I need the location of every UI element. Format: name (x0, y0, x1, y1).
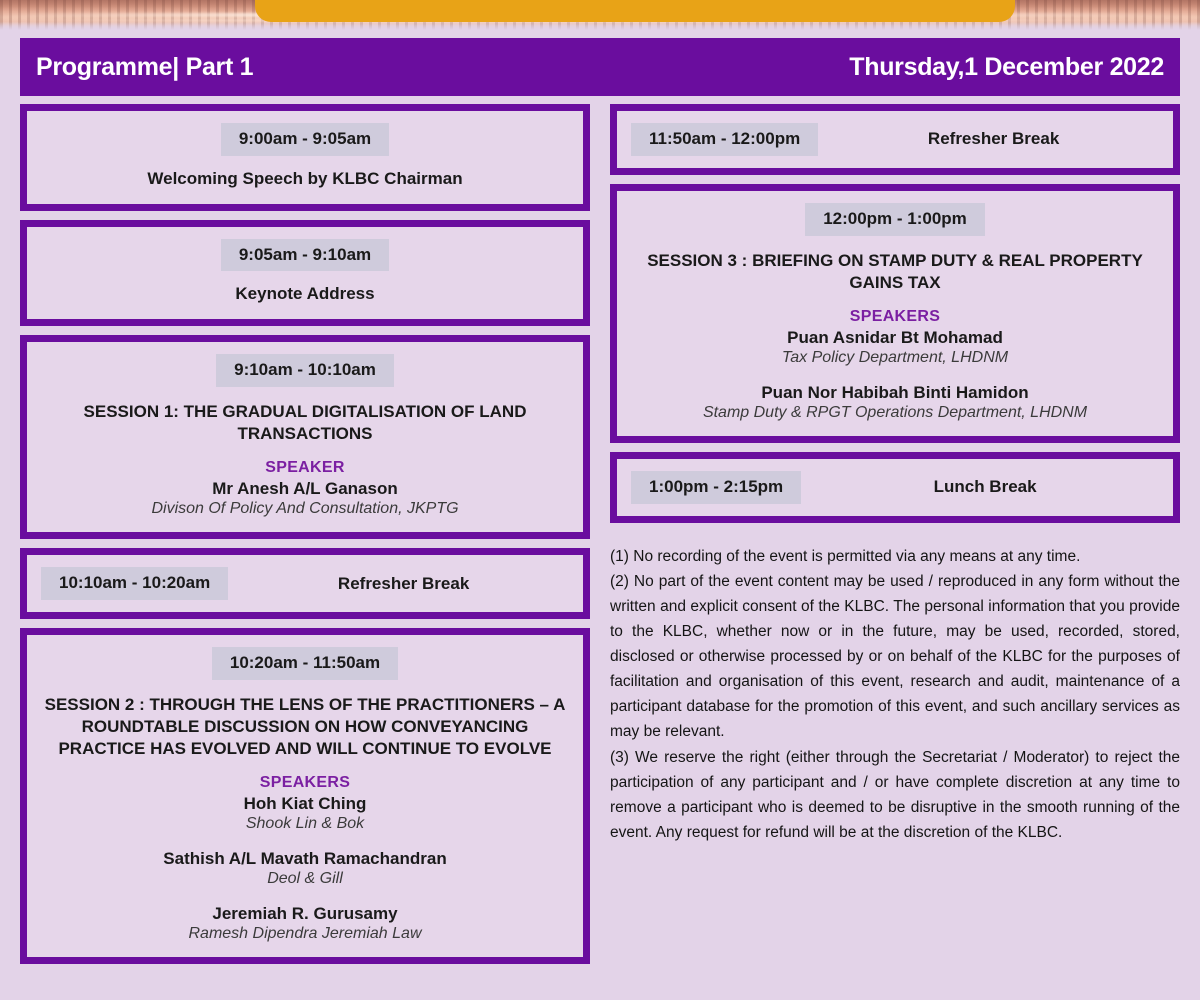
top-banner-image (0, 0, 1200, 30)
agenda-item-card: 9:00am - 9:05amWelcoming Speech by KLBC … (20, 104, 590, 211)
break-label: Lunch Break (811, 477, 1159, 497)
session-title: SESSION 3 : BRIEFING ON STAMP DUTY & REA… (631, 250, 1159, 294)
programme-date: Thursday,1 December 2022 (849, 53, 1164, 82)
programme-header-bar: Programme| Part 1 Thursday,1 December 20… (20, 38, 1180, 96)
terms-paragraph: (1) No recording of the event is permitt… (610, 544, 1180, 569)
session-title: SESSION 2 : THROUGH THE LENS OF THE PRAC… (41, 694, 569, 760)
speaker-organisation: Stamp Duty & RPGT Operations Department,… (631, 404, 1159, 422)
agenda-item-title: Keynote Address (41, 283, 569, 305)
time-chip: 9:05am - 9:10am (221, 239, 389, 272)
speaker-organisation: Ramesh Dipendra Jeremiah Law (41, 925, 569, 943)
terms-paragraph: (2) No part of the event content may be … (610, 569, 1180, 745)
time-chip: 11:50am - 12:00pm (631, 123, 818, 156)
terms-paragraph: (3) We reserve the right (either through… (610, 745, 1180, 845)
banner-fade-overlay (0, 22, 1200, 30)
banner-orange-shape (255, 0, 1015, 22)
speaker-organisation: Tax Policy Department, LHDNM (631, 349, 1159, 367)
agenda-item-card: 9:05am - 9:10amKeynote Address (20, 220, 590, 327)
time-chip: 12:00pm - 1:00pm (805, 203, 985, 236)
break-card: 1:00pm - 2:15pmLunch Break (610, 452, 1180, 523)
session-card: 10:20am - 11:50amSESSION 2 : THROUGH THE… (20, 628, 590, 964)
speaker-block: Jeremiah R. GurusamyRamesh Dipendra Jere… (41, 904, 569, 943)
speakers-heading: SPEAKERS (631, 308, 1159, 326)
speakers-heading: SPEAKERS (41, 774, 569, 792)
session-card: 9:10am - 10:10amSESSION 1: THE GRADUAL D… (20, 335, 590, 539)
speaker-name: Mr Anesh A/L Ganason (41, 479, 569, 499)
time-chip: 9:10am - 10:10am (216, 354, 394, 387)
speaker-block: Sathish A/L Mavath RamachandranDeol & Gi… (41, 849, 569, 888)
speaker-name: Puan Asnidar Bt Mohamad (631, 328, 1159, 348)
speaker-organisation: Shook Lin & Bok (41, 815, 569, 833)
right-column: 11:50am - 12:00pmRefresher Break12:00pm … (610, 104, 1180, 964)
speaker-organisation: Divison Of Policy And Consultation, JKPT… (41, 500, 569, 518)
page-title: Programme| Part 1 (36, 53, 253, 82)
speaker-block: Mr Anesh A/L GanasonDivison Of Policy An… (41, 479, 569, 518)
time-chip: 10:10am - 10:20am (41, 567, 228, 600)
time-chip: 10:20am - 11:50am (212, 647, 398, 680)
break-card: 11:50am - 12:00pmRefresher Break (610, 104, 1180, 175)
speaker-organisation: Deol & Gill (41, 870, 569, 888)
left-column: 9:00am - 9:05amWelcoming Speech by KLBC … (20, 104, 590, 964)
session-card: 12:00pm - 1:00pmSESSION 3 : BRIEFING ON … (610, 184, 1180, 443)
speaker-name: Hoh Kiat Ching (41, 794, 569, 814)
terms-and-conditions: (1) No recording of the event is permitt… (610, 544, 1180, 845)
speaker-name: Sathish A/L Mavath Ramachandran (41, 849, 569, 869)
time-chip: 1:00pm - 2:15pm (631, 471, 801, 504)
break-label: Refresher Break (238, 574, 569, 594)
break-label: Refresher Break (828, 129, 1159, 149)
session-title: SESSION 1: THE GRADUAL DIGITALISATION OF… (41, 401, 569, 445)
speaker-name: Jeremiah R. Gurusamy (41, 904, 569, 924)
speaker-block: Hoh Kiat ChingShook Lin & Bok (41, 794, 569, 833)
break-card: 10:10am - 10:20amRefresher Break (20, 548, 590, 619)
agenda-item-title: Welcoming Speech by KLBC Chairman (41, 168, 569, 190)
time-chip: 9:00am - 9:05am (221, 123, 389, 156)
speaker-block: Puan Asnidar Bt MohamadTax Policy Depart… (631, 328, 1159, 367)
speaker-block: Puan Nor Habibah Binti HamidonStamp Duty… (631, 383, 1159, 422)
speaker-name: Puan Nor Habibah Binti Hamidon (631, 383, 1159, 403)
programme-columns: 9:00am - 9:05amWelcoming Speech by KLBC … (20, 104, 1180, 964)
speakers-heading: SPEAKER (41, 459, 569, 477)
